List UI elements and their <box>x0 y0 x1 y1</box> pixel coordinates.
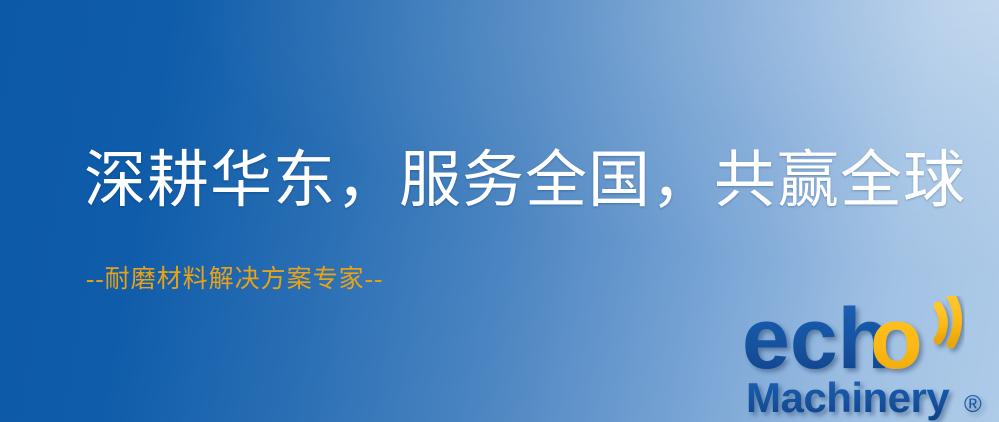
logo-tagline-machinery: Machinery <box>746 374 950 421</box>
echo-machinery-logo[interactable]: ech o Machinery ® <box>742 296 999 422</box>
banner-subtitle: --耐磨材料解决方案专家-- <box>86 266 383 294</box>
banner-headline: 深耕华东，服务全国，共赢全球 <box>84 150 966 212</box>
promo-banner: 深耕华东，服务全国，共赢全球 --耐磨材料解决方案专家-- <box>0 0 999 422</box>
signal-wave-icon <box>938 296 957 344</box>
registered-trademark-icon: ® <box>964 391 982 418</box>
logo-tagline-group: Machinery ® <box>746 374 982 421</box>
